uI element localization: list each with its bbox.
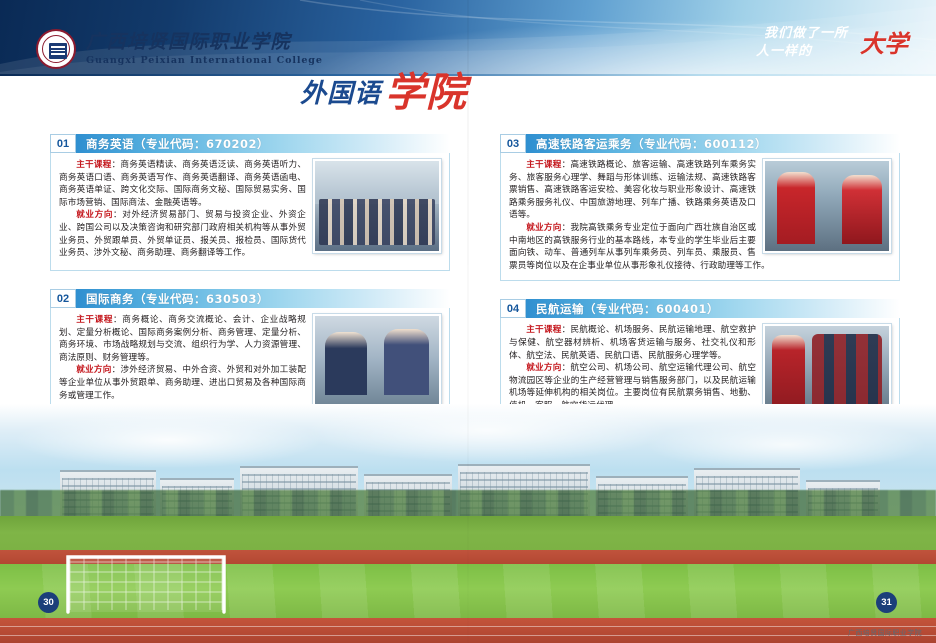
program-body: 主干课程：高速铁路概论、旅客运输、高速铁路列车乘务实务、旅客服务心理学、舞蹈与形… — [500, 153, 900, 281]
program-title: 高速铁路客运乘务（专业代码：600112） — [536, 136, 767, 152]
seal-inner-bars — [51, 46, 65, 56]
brochure-page: 广西培贤国际职业学院 Guangxi Peixian International… — [0, 0, 936, 643]
program-number: 02 — [50, 289, 76, 308]
program-number: 01 — [50, 134, 76, 153]
page-title: 外国语 学院 — [300, 64, 467, 112]
courses-label: 主干课程 — [526, 160, 561, 170]
page-number-left: 30 — [38, 592, 59, 613]
college-logo: 广西培贤国际职业学院 Guangxi Peixian International… — [36, 29, 323, 69]
career-label: 就业方向 — [526, 223, 561, 233]
program-title: 国际商务（专业代码：630503） — [86, 291, 269, 307]
page-gutter-fold — [467, 0, 469, 643]
courses-label: 主干课程 — [526, 325, 561, 335]
page-title-part-1: 外国语 — [300, 81, 381, 112]
slogan-line-1: 我们做了一所 — [764, 22, 848, 41]
program-title-bar: 商务英语（专业代码：670202） — [76, 134, 450, 153]
program-header: 01 商务英语（专业代码：670202） — [50, 134, 450, 153]
program-header: 03 高速铁路客运乘务（专业代码：600112） — [500, 134, 900, 153]
program-title-bar: 民航运输（专业代码：600401） — [526, 299, 900, 318]
college-name-cn: 广西培贤国际职业学院 — [86, 33, 323, 52]
courses-label: 主干课程 — [76, 160, 111, 170]
page-number-right: 31 — [876, 592, 897, 613]
page-title-part-2: 学院 — [385, 75, 467, 112]
soccer-goal — [62, 552, 230, 618]
program-title: 商务英语（专业代码：670202） — [86, 136, 269, 152]
career-label: 就业方向 — [76, 210, 113, 220]
business-english-students-photo — [313, 159, 441, 253]
courses-label: 主干课程 — [76, 315, 113, 325]
college-name-en: Guangxi Peixian International College — [86, 56, 323, 66]
header-slogan: 我们做了一所 人一样的 大学 — [750, 22, 910, 62]
career-label: 就业方向 — [526, 363, 561, 373]
left-column: 01 商务英语（专业代码：670202） 主干课程：商务英语精读、商务英语泛读、… — [50, 134, 450, 444]
program-title-bar: 国际商务（专业代码：630503） — [76, 289, 450, 308]
program-header: 02 国际商务（专业代码：630503） — [50, 289, 450, 308]
career-label: 就业方向 — [76, 365, 111, 375]
slogan-highlight: 大学 — [860, 24, 908, 59]
program-header: 04 民航运输（专业代码：600401） — [500, 299, 900, 318]
program-number: 04 — [500, 299, 526, 318]
program-title-bar: 高速铁路客运乘务（专业代码：600112） — [526, 134, 900, 153]
international-business-handshake-photo — [313, 314, 441, 408]
high-speed-rail-crew-photo — [763, 159, 891, 253]
college-seal-icon — [36, 29, 76, 69]
program-number: 03 — [500, 134, 526, 153]
program-card: 01 商务英语（专业代码：670202） 主干课程：商务英语精读、商务英语泛读、… — [50, 134, 450, 271]
logo-text-block: 广西培贤国际职业学院 Guangxi Peixian International… — [86, 33, 323, 66]
slogan-line-2: 人一样的 — [756, 40, 812, 59]
program-title: 民航运输（专业代码：600401） — [536, 301, 719, 317]
footer-note: 广西培贤国际职业学院 — [848, 628, 922, 638]
program-card: 03 高速铁路客运乘务（专业代码：600112） 主干课程：高速铁路概论、旅客运… — [500, 134, 900, 281]
program-body: 主干课程：商务英语精读、商务英语泛读、商务英语听力、商务英语口语、商务英语写作、… — [50, 153, 450, 271]
